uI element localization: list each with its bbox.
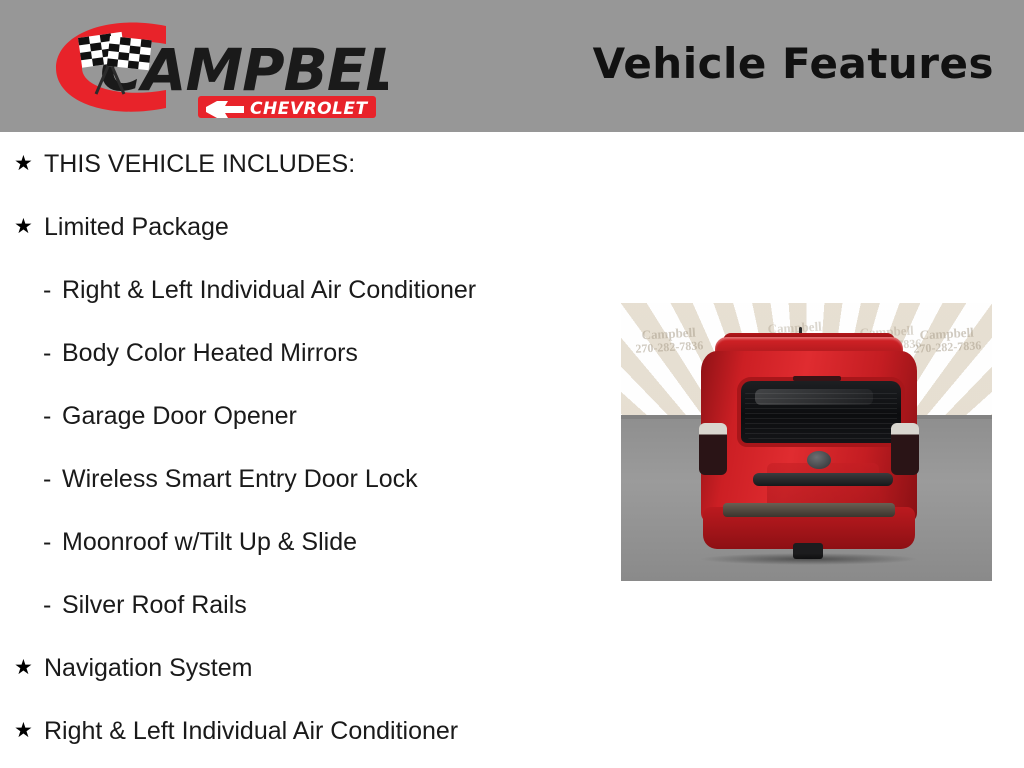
tailgate-handle xyxy=(753,473,893,486)
defroster-lines xyxy=(745,389,897,439)
list-item: ★ Limited Package xyxy=(0,195,612,258)
list-item: ★ THIS VEHICLE INCLUDES: xyxy=(0,132,612,195)
tailgate-body xyxy=(701,351,917,523)
list-item-label: Right & Left Individual Air Conditioner xyxy=(44,716,458,746)
list-item-label: Limited Package xyxy=(44,212,229,242)
high-mount-brake-light xyxy=(793,376,841,381)
suv-rear-view xyxy=(689,331,929,561)
list-item-label: Moonroof w/Tilt Up & Slide xyxy=(62,527,357,557)
ground-shadow xyxy=(699,553,919,565)
list-item: ★ Right & Left Individual Air Conditione… xyxy=(0,699,612,762)
toyota-emblem-icon xyxy=(807,451,831,469)
taillight-left xyxy=(699,423,727,475)
page-title: Vehicle Features xyxy=(593,38,994,90)
list-item-label: THIS VEHICLE INCLUDES: xyxy=(44,149,355,179)
star-icon: ★ xyxy=(14,720,34,741)
dash-bullet: - xyxy=(43,464,51,494)
list-item-label: Garage Door Opener xyxy=(62,401,297,431)
list-item: - Right & Left Individual Air Conditione… xyxy=(0,258,612,321)
list-item-label: Body Color Heated Mirrors xyxy=(62,338,358,368)
list-item-label: Right & Left Individual Air Conditioner xyxy=(62,275,476,305)
list-item: ★ Navigation System xyxy=(0,636,612,699)
dash-bullet: - xyxy=(43,590,51,620)
taillight-right xyxy=(891,423,919,475)
list-item: - Moonroof w/Tilt Up & Slide xyxy=(0,510,612,573)
vehicle-features-slide: CAMPBELL xyxy=(0,0,1024,768)
dealer-logo: CAMPBELL xyxy=(38,8,388,124)
list-item: - Wireless Smart Entry Door Lock xyxy=(0,447,612,510)
list-item: - Body Color Heated Mirrors xyxy=(0,321,612,384)
list-item: - Silver Roof Rails xyxy=(0,573,612,636)
dash-bullet: - xyxy=(43,275,51,305)
list-item-label: Wireless Smart Entry Door Lock xyxy=(62,464,418,494)
bumper-step-pad xyxy=(723,503,895,517)
star-icon: ★ xyxy=(14,153,34,174)
logo-brand-text: CHEVROLET xyxy=(250,99,368,119)
vehicle-photo: Campbell 270-282-7836 Campbell 270-282-7… xyxy=(621,303,992,581)
dash-bullet: - xyxy=(43,527,51,557)
feature-list: ★ THIS VEHICLE INCLUDES: ★ Limited Packa… xyxy=(0,132,612,762)
dash-bullet: - xyxy=(43,338,51,368)
dash-bullet: - xyxy=(43,401,51,431)
star-icon: ★ xyxy=(14,216,34,237)
star-icon: ★ xyxy=(14,657,34,678)
list-item-label: Silver Roof Rails xyxy=(62,590,247,620)
list-item: - Garage Door Opener xyxy=(0,384,612,447)
header-bar: CAMPBELL xyxy=(0,0,1024,132)
list-item-label: Navigation System xyxy=(44,653,252,683)
